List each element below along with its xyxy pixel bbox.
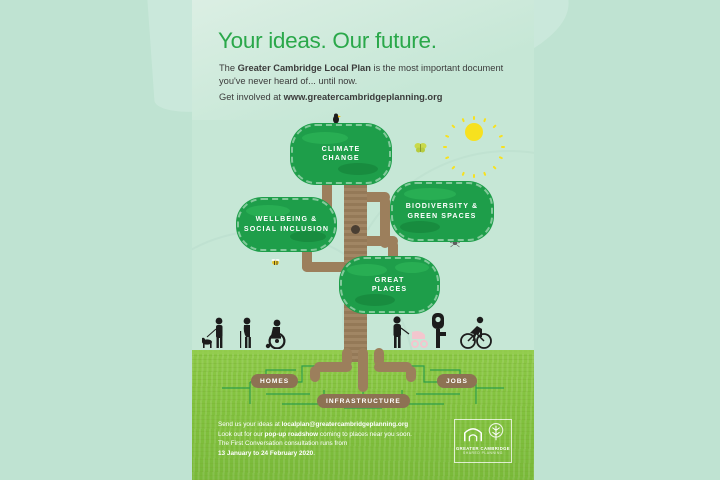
footer-line-email: Send us your ideas at localplan@greaterc… xyxy=(218,420,443,430)
root-pill-infrastructure[interactable]: INFRASTRUCTURE xyxy=(317,394,410,408)
poster-footer-text: Send us your ideas at localplan@greaterc… xyxy=(218,420,443,458)
tree-logo-icon xyxy=(487,422,505,444)
root-right-drop xyxy=(406,366,416,382)
pram-icon xyxy=(410,329,430,349)
canopy-climate-change[interactable]: CLIMATE CHANGE xyxy=(290,123,392,185)
people-silhouettes xyxy=(192,305,534,353)
logo-marks xyxy=(462,422,505,444)
footer-line-roadshow: Look out for our pop-up roadshow coming … xyxy=(218,430,443,440)
footer-line-consultation: The First Conversation consultation runs… xyxy=(218,439,443,449)
bridge-arch-icon xyxy=(462,422,484,444)
footer-email[interactable]: localplan@greatercambridgeplanning.org xyxy=(282,421,409,428)
root-left-drop xyxy=(310,366,320,382)
poster-canvas: Your ideas. Our future. The Greater Camb… xyxy=(192,0,534,480)
wheelchair-user-icon xyxy=(264,318,290,349)
canopy-biodiversity-green-spaces[interactable]: BIODIVERSITY & GREEN SPACES xyxy=(390,181,494,242)
footer-line-dates: 13 January to 24 February 2020. xyxy=(218,449,443,459)
logo-subtitle: SHARED PLANNING xyxy=(463,451,503,455)
dog-walker-icon xyxy=(202,317,228,349)
root-pill-homes[interactable]: HOMES xyxy=(251,374,298,388)
cyclist-icon xyxy=(460,315,492,349)
canopy-label-climate: CLIMATE CHANGE xyxy=(322,145,361,164)
canopy-wellbeing-social-inclusion[interactable]: WELLBEING & SOCIAL INCLUSION xyxy=(236,197,337,252)
person-with-cane-icon xyxy=(238,317,258,349)
canopy-label-great-places: GREAT PLACES xyxy=(372,276,407,295)
beetle-icon xyxy=(351,225,360,234)
poster-screenshot: Your ideas. Our future. The Greater Camb… xyxy=(0,0,720,480)
roots-network: HOMES INFRASTRUCTURE JOBS xyxy=(192,348,534,414)
root-pill-jobs[interactable]: JOBS xyxy=(437,374,477,388)
canopy-label-biodiversity: BIODIVERSITY & GREEN SPACES xyxy=(406,202,478,221)
signpost-icon xyxy=(430,313,446,349)
canopy-label-wellbeing: WELLBEING & SOCIAL INCLUSION xyxy=(244,215,329,234)
greater-cambridge-logo: GREATER CAMBRIDGE SHARED PLANNING xyxy=(454,419,512,463)
parent-with-pram-icon xyxy=(388,316,412,349)
root-center-stem xyxy=(358,348,368,392)
